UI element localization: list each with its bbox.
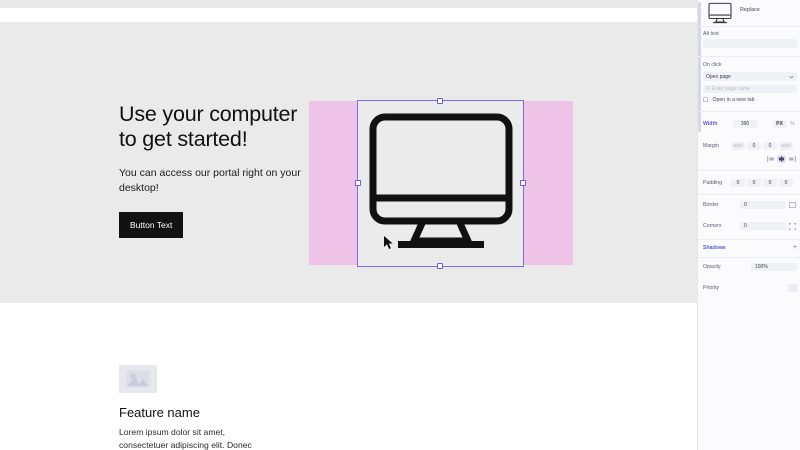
- panel-divider-2: [698, 56, 800, 57]
- corners-label: Corners: [703, 223, 731, 229]
- margin-bottom-input[interactable]: 0: [763, 142, 777, 150]
- resize-handle-right[interactable]: [520, 180, 526, 186]
- border-width-input[interactable]: 0: [740, 201, 786, 209]
- width-label: Width: [703, 121, 731, 127]
- hero-cta-button[interactable]: Button Text: [119, 212, 183, 238]
- image-placeholder-icon: [126, 370, 150, 388]
- panel-divider-1: [698, 26, 800, 27]
- margin-left-input[interactable]: auto: [779, 142, 793, 150]
- alt-text-input[interactable]: [703, 39, 797, 48]
- features-section: Feature name Lorem ipsum dolor sit amet,…: [0, 303, 697, 450]
- on-click-label: On click: [703, 62, 797, 68]
- hero-title-line-2: to get started!: [119, 127, 247, 151]
- on-click-select[interactable]: Open page: [703, 72, 797, 81]
- shadows-label: Shadows: [703, 245, 726, 251]
- border-label: Border: [703, 202, 731, 208]
- panel-divider-6: [698, 239, 800, 240]
- hero-title: Use your computer to get started!: [119, 102, 309, 152]
- replace-image-button[interactable]: Replace: [740, 7, 760, 13]
- website-canvas[interactable]: Use your computer to get started! You ca…: [0, 0, 697, 450]
- border-style-icon[interactable]: [788, 201, 797, 209]
- canvas-top-strip: [0, 0, 697, 8]
- width-value-input[interactable]: 390: [733, 120, 757, 128]
- padding-label: Padding: [703, 180, 729, 186]
- panel-divider-7: [698, 257, 800, 258]
- monitor-thumbnail-icon[interactable]: [706, 2, 734, 24]
- corners-radius-input[interactable]: 0: [740, 222, 786, 230]
- align-right-icon[interactable]: [788, 155, 797, 163]
- panel-divider-3: [698, 111, 800, 112]
- margin-top-input[interactable]: auto: [731, 142, 745, 150]
- feature-card-1[interactable]: Feature name Lorem ipsum dolor sit amet,…: [119, 365, 269, 450]
- properties-panel[interactable]: Replace Alt text On click Open page ⚲: [697, 0, 800, 450]
- resize-handle-bottom[interactable]: [437, 263, 443, 269]
- on-click-selected-value: Open page: [706, 74, 731, 80]
- align-left-icon[interactable]: [766, 155, 775, 163]
- width-unit-percent-button[interactable]: %: [788, 120, 797, 128]
- priority-toggle[interactable]: [788, 284, 797, 292]
- app-root: Use your computer to get started! You ca…: [0, 0, 800, 450]
- chevron-down-icon: [789, 75, 794, 79]
- margin-right-input[interactable]: 0: [747, 142, 761, 150]
- opacity-value-input[interactable]: 100%: [751, 263, 797, 271]
- width-unit-px-button[interactable]: PX: [773, 120, 786, 128]
- page-name-placeholder: Enter page name: [712, 86, 750, 92]
- selected-image-element[interactable]: [358, 101, 523, 266]
- margin-label: Margin: [703, 143, 729, 149]
- feature-card-1-image[interactable]: [119, 365, 157, 393]
- resize-handle-left[interactable]: [355, 180, 361, 186]
- padding-left-input[interactable]: 0: [779, 179, 793, 187]
- hero-title-line-1: Use your computer: [119, 102, 297, 126]
- padding-right-input[interactable]: 0: [747, 179, 761, 187]
- alt-text-label: Alt text: [703, 31, 797, 37]
- padding-bottom-input[interactable]: 0: [763, 179, 777, 187]
- hero-text-block[interactable]: Use your computer to get started! You ca…: [119, 102, 309, 238]
- mouse-cursor-icon: [384, 236, 394, 250]
- new-tab-label: Open in a new tab: [712, 97, 754, 103]
- feature-card-1-title: Feature name: [119, 405, 269, 420]
- align-center-icon[interactable]: [777, 155, 786, 163]
- opacity-label: Opacity: [703, 264, 733, 270]
- link-icon: ⚲: [706, 86, 710, 92]
- priority-label: Priority: [703, 285, 733, 291]
- new-tab-checkbox[interactable]: [703, 97, 708, 102]
- panel-scrollbar[interactable]: [698, 2, 701, 132]
- desktop-monitor-icon: [366, 107, 516, 257]
- site-navbar-placeholder[interactable]: [0, 8, 697, 22]
- resize-handle-top[interactable]: [437, 98, 443, 104]
- panel-divider-5: [698, 194, 800, 195]
- feature-card-1-body: Lorem ipsum dolor sit amet, consectetuer…: [119, 426, 269, 450]
- corners-expand-icon[interactable]: [788, 222, 797, 230]
- hero-subtitle: You can access our portal right on your …: [119, 166, 309, 196]
- padding-top-input[interactable]: 0: [731, 179, 745, 187]
- page-name-input[interactable]: ⚲ Enter page name: [703, 85, 797, 93]
- panel-divider-4: [698, 170, 800, 171]
- plus-icon[interactable]: +: [793, 244, 797, 251]
